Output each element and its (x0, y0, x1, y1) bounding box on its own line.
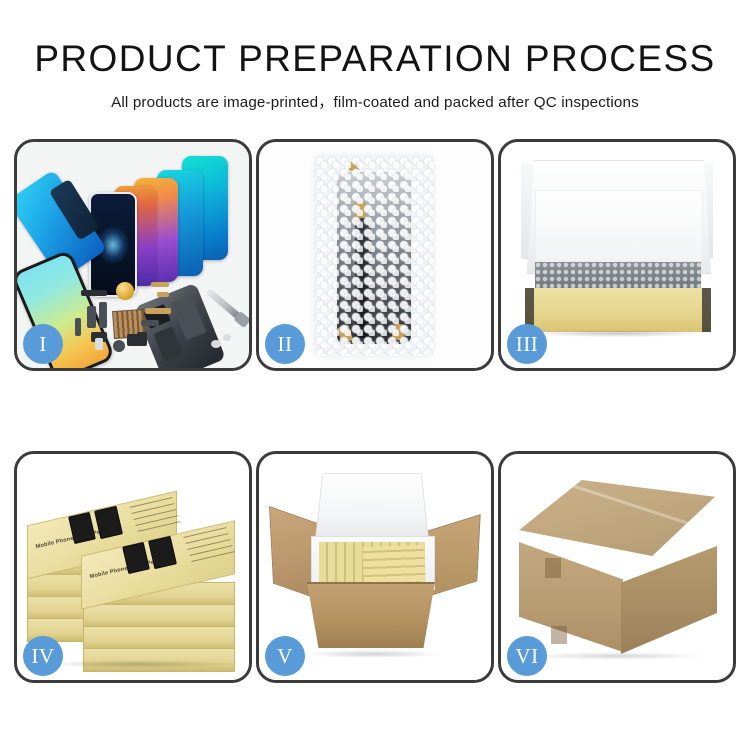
bubble-wrap-contents-icon (535, 262, 701, 290)
spare-part-icon (95, 338, 103, 350)
spare-part-icon (141, 320, 159, 326)
process-step-card-5[interactable]: V (256, 451, 494, 683)
step-badge-6: VI (507, 636, 547, 676)
carton-tape-icon (551, 626, 567, 644)
spare-part-icon (211, 340, 221, 348)
spare-part-icon (151, 282, 169, 287)
drop-shadow (527, 652, 707, 660)
step-badge-5: V (265, 636, 305, 676)
step-1-illustration: I (17, 142, 249, 368)
spare-part-icon (81, 290, 107, 296)
page-title: PRODUCT PREPARATION PROCESS (0, 0, 750, 79)
carton-body-icon (307, 582, 435, 648)
bubble-texture (315, 156, 433, 356)
step-3-illustration: III (501, 142, 733, 368)
step-badge-3: III (507, 324, 547, 364)
spare-part-icon (87, 306, 96, 328)
kraft-box-tray-icon (525, 288, 711, 332)
bubble-wrap-bag-icon (315, 156, 433, 356)
step-5-illustration: V (259, 454, 491, 680)
carton-tape-icon (545, 558, 561, 578)
packed-inner-boxes-icon (362, 545, 425, 583)
page-subtitle: All products are image-printed，film-coat… (0, 79, 750, 112)
drop-shadow (303, 650, 443, 658)
step-badge-4: IV (23, 636, 63, 676)
process-step-card-4[interactable]: Mobile Phone Spare Parts Mobile Phone Sp… (14, 451, 252, 683)
speaker-module-icon (116, 282, 134, 300)
spare-part-icon (137, 332, 147, 346)
step-6-illustration: VI (501, 454, 733, 680)
drop-shadow (39, 660, 239, 668)
styrofoam-lid-icon (315, 473, 429, 539)
process-step-card-6[interactable]: VI (498, 451, 736, 683)
step-4-illustration: Mobile Phone Spare Parts Mobile Phone Sp… (17, 454, 249, 680)
process-step-card-2[interactable]: II (256, 139, 494, 371)
foam-sheet-icon (535, 190, 703, 262)
spare-part-icon (223, 334, 231, 341)
stacked-box-edge (83, 604, 235, 628)
spare-part-icon (75, 318, 81, 336)
spare-part-icon (113, 340, 125, 352)
step-badge-1: I (23, 324, 63, 364)
spare-part-icon (99, 302, 107, 328)
process-step-card-3[interactable]: III (498, 139, 736, 371)
process-steps-grid: I II (14, 139, 736, 709)
process-step-card-1[interactable]: I (14, 139, 252, 371)
stacked-box-edge (83, 626, 235, 650)
page-header: PRODUCT PREPARATION PROCESS All products… (0, 0, 750, 112)
spare-part-icon (145, 308, 171, 314)
drop-shadow (531, 330, 705, 337)
spare-part-icon (157, 292, 169, 297)
step-2-illustration: II (259, 142, 491, 368)
step-badge-2: II (265, 324, 305, 364)
